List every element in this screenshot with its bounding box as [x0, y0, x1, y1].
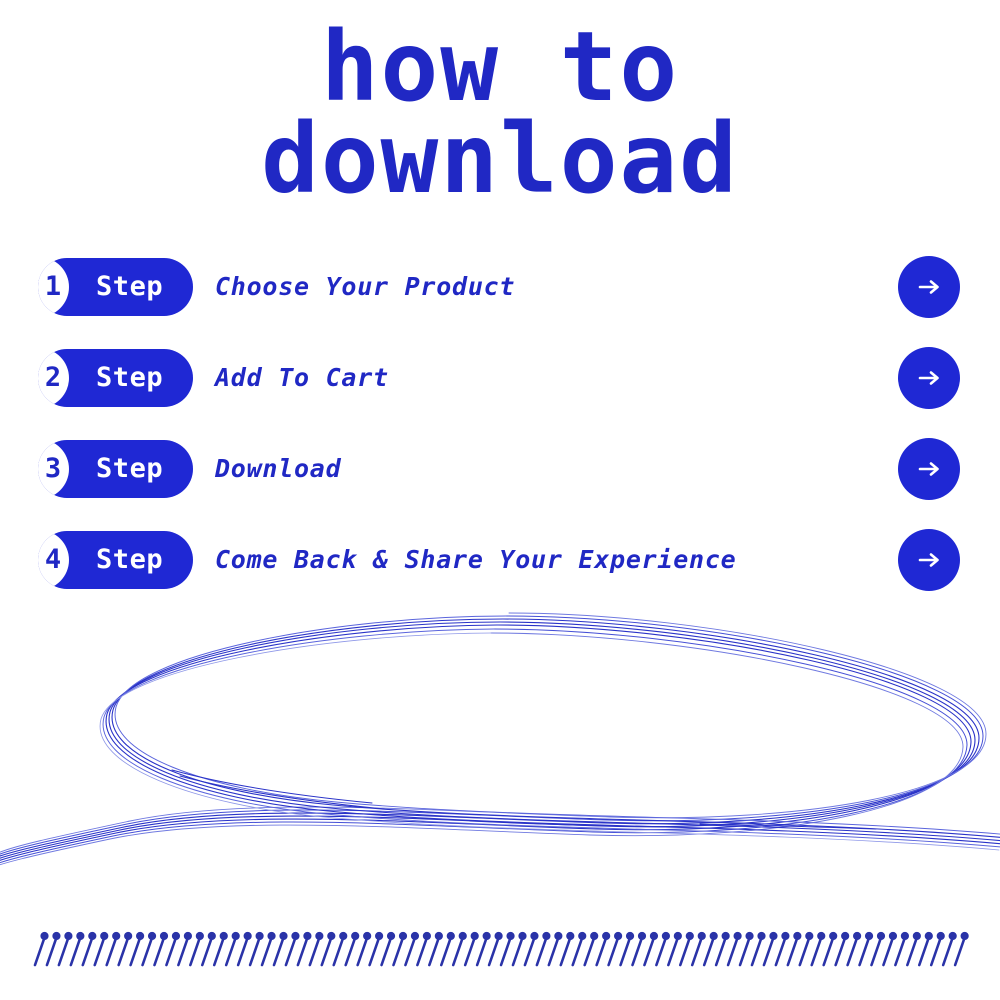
poster-canvas: how to download Step 1 Choose Your Produ…	[0, 0, 1000, 1000]
page-title-line-2: download	[0, 114, 1000, 204]
step-arrow-button[interactable]	[898, 529, 960, 591]
arrow-right-icon	[914, 363, 944, 393]
step-arrow-button[interactable]	[898, 438, 960, 500]
step-pill-word: Step	[96, 349, 163, 407]
step-row: Step 1 Choose Your Product	[0, 252, 1000, 343]
step-label: Add To Cart	[215, 349, 389, 407]
step-arrow-button[interactable]	[898, 256, 960, 318]
step-number: 1	[38, 258, 68, 316]
pin-border	[0, 925, 1000, 971]
step-label: Come Back & Share Your Experience	[215, 531, 736, 589]
steps-list: Step 1 Choose Your Product Step 2 Add To…	[0, 252, 1000, 616]
step-row: Step 4 Come Back & Share Your Experience	[0, 525, 1000, 616]
step-number: 4	[38, 531, 68, 589]
step-label: Download	[215, 440, 341, 498]
arrow-right-icon	[914, 272, 944, 302]
step-number: 2	[38, 349, 68, 407]
step-label: Choose Your Product	[215, 258, 515, 316]
step-number: 3	[38, 440, 68, 498]
lasso-scribble	[0, 600, 1000, 900]
page-title-line-1: how to	[0, 22, 1000, 112]
arrow-right-icon	[914, 454, 944, 484]
step-row: Step 2 Add To Cart	[0, 343, 1000, 434]
arrow-right-icon	[914, 545, 944, 575]
page-title: how to download	[0, 22, 1000, 204]
step-arrow-button[interactable]	[898, 347, 960, 409]
step-pill-word: Step	[96, 440, 163, 498]
step-pill-word: Step	[96, 531, 163, 589]
step-row: Step 3 Download	[0, 434, 1000, 525]
step-pill-word: Step	[96, 258, 163, 316]
